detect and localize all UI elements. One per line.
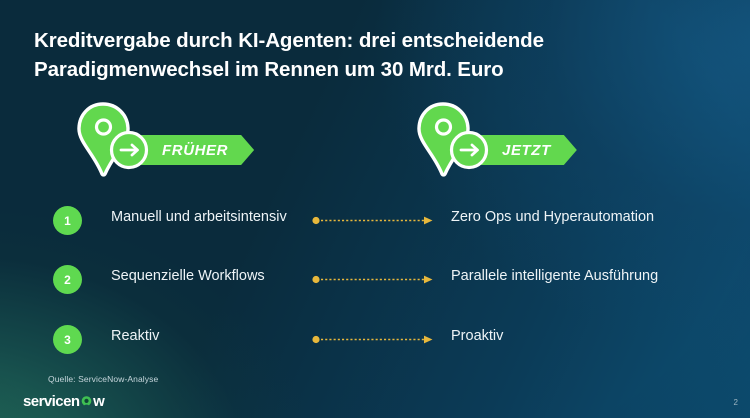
- comparison-row: 1 Manuell und arbeitsintensiv Zero Ops u…: [0, 206, 750, 236]
- slide-title: Kreditvergabe durch KI-Agenten: drei ent…: [34, 26, 694, 84]
- row-before-label: Reaktiv: [111, 328, 159, 344]
- slide-canvas: Kreditvergabe durch KI-Agenten: drei ent…: [0, 0, 750, 418]
- row-number-badge: 3: [53, 325, 82, 354]
- map-pin-icon: [72, 102, 182, 180]
- source-note: Quelle: ServiceNow-Analyse: [48, 374, 158, 384]
- servicenow-mark-icon: [80, 395, 93, 408]
- dotted-arrow-icon: [312, 214, 436, 227]
- logo-text-after: w: [93, 393, 104, 410]
- dotted-arrow-icon: [312, 333, 436, 346]
- row-before-label: Manuell und arbeitsintensiv: [111, 209, 287, 225]
- row-after-label: Proaktiv: [451, 328, 503, 344]
- map-pin-icon: [412, 102, 522, 180]
- dotted-arrow-icon: [312, 273, 436, 286]
- row-before-label: Sequenzielle Workflows: [111, 268, 265, 284]
- comparison-row: 3 Reaktiv Proaktiv: [0, 325, 750, 355]
- row-after-label: Parallele intelligente Ausführung: [451, 268, 658, 284]
- comparison-row: 2 Sequenzielle Workflows Parallele intel…: [0, 265, 750, 295]
- row-after-label: Zero Ops und Hyperautomation: [451, 209, 654, 225]
- logo-text-before: servicen: [23, 393, 79, 410]
- servicenow-logo: servicen w: [23, 393, 104, 410]
- page-number: 2: [734, 398, 738, 407]
- row-number-badge: 1: [53, 206, 82, 235]
- row-number-badge: 2: [53, 265, 82, 294]
